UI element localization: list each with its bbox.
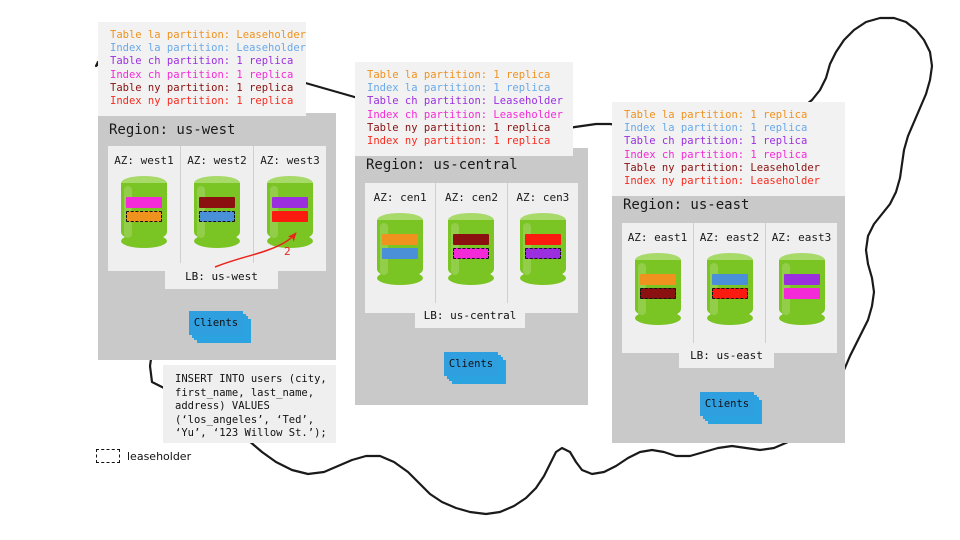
sql-statement-box: INSERT INTO users (city, first_name, las… [163, 365, 336, 443]
az-cen2[interactable]: AZ: cen2 [435, 183, 506, 313]
partition-bars [126, 197, 162, 225]
az-west1[interactable]: AZ: west1 [108, 146, 180, 271]
legend-line: Index la partition: Leaseholder [110, 42, 296, 55]
db-node-cylinder[interactable] [121, 176, 167, 248]
legend-us-central: Table la partition: 1 replica Index la p… [355, 62, 573, 156]
leaseholder-key-label: leaseholder [127, 450, 191, 463]
partition-bar [640, 274, 676, 285]
legend-line: Table ny partition: 1 replica [367, 122, 563, 135]
az-group-us-central: AZ: cen1 AZ: cen2 [365, 183, 578, 313]
partition-bar [382, 234, 418, 245]
legend-line: Index ch partition: 1 replica [110, 69, 296, 82]
partition-bars [784, 274, 820, 302]
legend-line: Table la partition: 1 replica [367, 69, 563, 82]
legend-line: Index ch partition: 1 replica [624, 149, 835, 162]
partition-bar [382, 248, 418, 259]
sql-line: address) VALUES [175, 400, 326, 414]
db-node-cylinder[interactable] [635, 253, 681, 325]
az-label: AZ: east2 [700, 231, 760, 244]
partition-bars [382, 234, 418, 262]
partition-bars [272, 197, 308, 225]
az-label: AZ: east1 [628, 231, 688, 244]
leaseholder-key: leaseholder [96, 449, 191, 463]
partition-bar [126, 211, 162, 222]
partition-bar [712, 274, 748, 285]
az-label: AZ: west1 [114, 154, 174, 167]
az-cen1[interactable]: AZ: cen1 [365, 183, 435, 313]
legend-line: Index ch partition: Leaseholder [367, 109, 563, 122]
partition-bar [712, 288, 748, 299]
legend-line: Table la partition: Leaseholder [110, 29, 296, 42]
legend-line: Index ny partition: Leaseholder [624, 175, 835, 188]
db-node-cylinder[interactable] [267, 176, 313, 248]
az-east3[interactable]: AZ: east3 [765, 223, 837, 353]
region-title: Region: us-east [623, 197, 749, 213]
legend-line: Table ny partition: 1 replica [110, 82, 296, 95]
az-label: AZ: cen3 [516, 191, 569, 204]
partition-bars [712, 274, 748, 302]
db-node-cylinder[interactable] [520, 213, 566, 285]
legend-us-east: Table la partition: 1 replica Index la p… [612, 102, 845, 196]
az-label: AZ: east3 [772, 231, 832, 244]
az-cen3[interactable]: AZ: cen3 [507, 183, 578, 313]
load-balancer-us-east[interactable]: LB: us-east [679, 343, 774, 368]
partition-bar [272, 211, 308, 222]
legend-line: Table ch partition: 1 replica [624, 135, 835, 148]
partition-bar [199, 197, 235, 208]
partition-bars [453, 234, 489, 262]
az-label: AZ: west2 [187, 154, 247, 167]
sql-line: (‘los_angeles’, ‘Ted’, [175, 414, 326, 428]
partition-bar [640, 288, 676, 299]
db-node-cylinder[interactable] [448, 213, 494, 285]
partition-bar [784, 274, 820, 285]
db-node-cylinder[interactable] [779, 253, 825, 325]
legend-line: Table ch partition: Leaseholder [367, 95, 563, 108]
az-east2[interactable]: AZ: east2 [693, 223, 765, 353]
legend-line: Table ch partition: 1 replica [110, 55, 296, 68]
region-title: Region: us-central [366, 157, 518, 173]
az-group-us-west: AZ: west1 AZ: west2 [108, 146, 326, 271]
az-label: AZ: cen1 [374, 191, 427, 204]
az-east1[interactable]: AZ: east1 [622, 223, 693, 353]
clients-us-west[interactable]: Clients [189, 311, 251, 343]
sql-line: ‘Yu’, ‘123 Willow St.’); [175, 427, 326, 441]
sql-line: INSERT INTO users (city, [175, 373, 326, 387]
partition-bar [272, 197, 308, 208]
partition-bar [525, 248, 561, 259]
partition-bar [453, 248, 489, 259]
step-number-label: 2 [284, 245, 291, 258]
az-west2[interactable]: AZ: west2 [180, 146, 253, 271]
db-node-cylinder[interactable] [377, 213, 423, 285]
diagram-canvas: Table la partition: Leaseholder Index la… [0, 0, 960, 540]
db-node-cylinder[interactable] [194, 176, 240, 248]
partition-bar [126, 197, 162, 208]
load-balancer-us-west[interactable]: LB: us-west [165, 263, 278, 289]
az-label: AZ: west3 [260, 154, 320, 167]
legend-line: Index ny partition: 1 replica [110, 95, 296, 108]
load-balancer-us-central[interactable]: LB: us-central [415, 303, 525, 328]
clients-label[interactable]: Clients [444, 352, 498, 376]
partition-bar [199, 211, 235, 222]
partition-bar [784, 288, 820, 299]
clients-us-east[interactable]: Clients [700, 392, 762, 424]
legend-us-west: Table la partition: Leaseholder Index la… [98, 22, 306, 116]
partition-bar [525, 234, 561, 245]
legend-line: Index la partition: 1 replica [367, 82, 563, 95]
legend-line: Index ny partition: 1 replica [367, 135, 563, 148]
partition-bars [525, 234, 561, 262]
sql-line: first_name, last_name, [175, 387, 326, 401]
clients-label[interactable]: Clients [700, 392, 754, 416]
legend-line: Table la partition: 1 replica [624, 109, 835, 122]
region-title: Region: us-west [109, 122, 235, 138]
db-node-cylinder[interactable] [707, 253, 753, 325]
partition-bar [453, 234, 489, 245]
az-group-us-east: AZ: east1 AZ: east2 [622, 223, 837, 353]
clients-label[interactable]: Clients [189, 311, 243, 335]
leaseholder-swatch-icon [96, 449, 120, 463]
clients-us-central[interactable]: Clients [444, 352, 506, 384]
legend-line: Index la partition: 1 replica [624, 122, 835, 135]
partition-bars [199, 197, 235, 225]
partition-bars [640, 274, 676, 302]
legend-line: Table ny partition: Leaseholder [624, 162, 835, 175]
az-label: AZ: cen2 [445, 191, 498, 204]
